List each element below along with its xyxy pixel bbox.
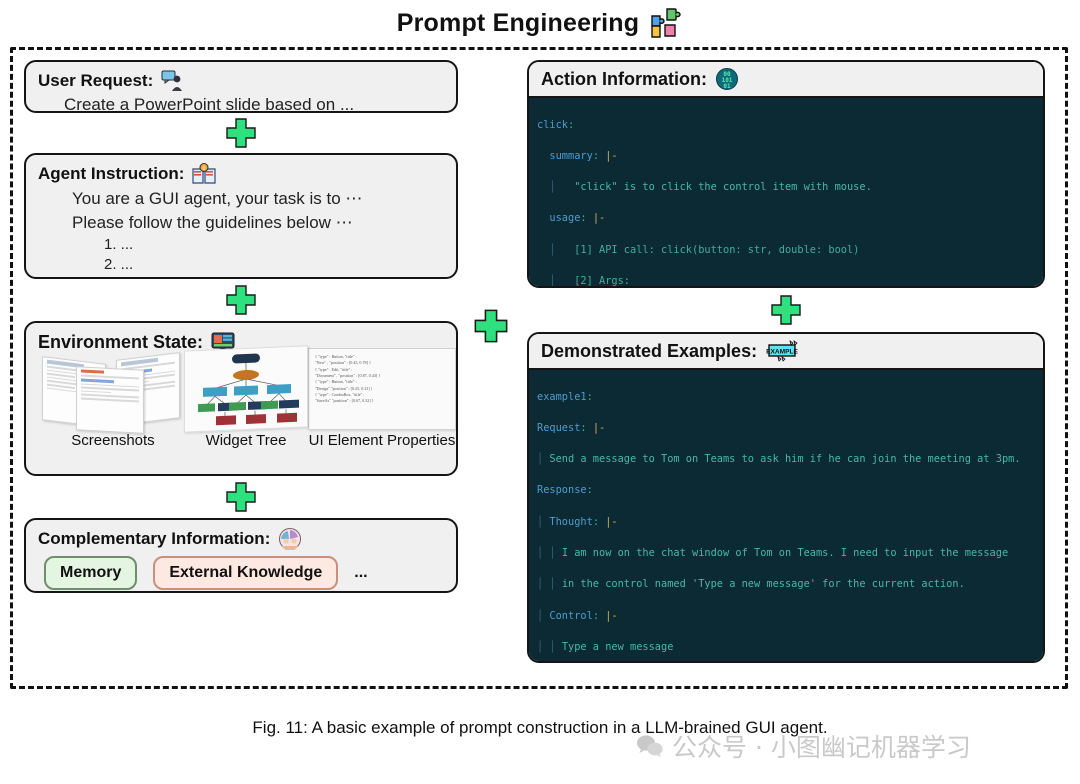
plus-separator-4 — [527, 288, 1045, 332]
environment-item-ui-properties: { "type" : Button, "title" : "New" , "po… — [308, 348, 456, 449]
complementary-information-card: Complementary Information: Memory Extern… — [24, 518, 458, 593]
screenshots-thumbnail — [42, 354, 184, 430]
ui-property-line: "SaveAs" "position" : [0.67, 0.32] } — [315, 398, 450, 404]
svg-text:EXAMPLE: EXAMPLE — [766, 349, 798, 356]
agent-instruction-card: Agent Instruction: i You are a GUI agent… — [24, 153, 458, 279]
environment-item-label: Widget Tree — [206, 432, 287, 449]
environment-item-widget-tree: Widget Tree — [184, 348, 308, 449]
action-information-code: click: summary: |- │ "click" is to click… — [529, 98, 1043, 286]
action-information-card: Action Information: 00 101 01 click: sum… — [527, 60, 1045, 288]
code-line: Response: — [529, 483, 1043, 499]
code-line: click: — [529, 118, 1043, 134]
code-line: Request: |- — [529, 421, 1043, 437]
agent-instruction-line-2: Please follow the guidelines below ⋯ — [72, 213, 444, 233]
puzzle-piece-icon — [647, 6, 683, 40]
complementary-information-title: Complementary Information: — [38, 529, 270, 549]
plus-separator-2 — [24, 279, 458, 321]
svg-text:01: 01 — [723, 83, 731, 90]
code-line: │ [1] API call: click(button: str, doubl… — [529, 243, 1043, 259]
user-speech-bubble-icon — [161, 70, 185, 92]
agent-instruction-item-1: 1. ... — [104, 236, 444, 253]
user-request-title-row: User Request: — [38, 70, 444, 92]
plus-separator-3 — [24, 476, 458, 518]
code-line: usage: |- — [529, 211, 1043, 227]
example-tag-icon: EXAMPLE — [765, 340, 799, 362]
code-line: │ Send a message to Tom on Teams to ask … — [529, 452, 1043, 468]
demonstrated-examples-title: Demonstrated Examples: — [541, 341, 757, 362]
code-line: │ │ Type a new message — [529, 640, 1043, 656]
figure-title: Prompt Engineering — [0, 6, 1080, 40]
agent-instruction-title: Agent Instruction: — [38, 164, 184, 184]
user-request-text: Create a PowerPoint slide based on ... — [64, 95, 444, 115]
code-line: │ [2] Args: — [529, 274, 1043, 286]
figure-caption: Fig. 11: A basic example of prompt const… — [0, 718, 1080, 738]
code-line: │ Thought: |- — [529, 515, 1043, 531]
plus-separator-main — [471, 306, 511, 346]
code-line: │ "click" is to click the control item w… — [529, 180, 1043, 196]
user-request-card: User Request: Create a PowerPoint slide … — [24, 60, 458, 113]
agent-instruction-title-row: Agent Instruction: i — [38, 163, 444, 185]
binary-code-icon: 00 101 01 — [715, 68, 739, 90]
action-information-header: Action Information: 00 101 01 — [529, 62, 1043, 98]
demonstrated-examples-card: Demonstrated Examples: EXAMPLE example1:… — [527, 332, 1045, 663]
environment-state-card: Environment State: — [24, 321, 458, 476]
widget-tree-thumbnail — [184, 345, 308, 432]
action-information-title: Action Information: — [541, 69, 707, 90]
environment-item-label: Screenshots — [71, 432, 154, 449]
environment-state-items: Screenshots — [38, 355, 444, 449]
memory-chip[interactable]: Memory — [44, 556, 137, 590]
user-request-title: User Request: — [38, 71, 153, 91]
complementary-chips: Memory External Knowledge ... — [44, 556, 444, 590]
ui-properties-thumbnail: { "type" : Button, "title" : "New" , "po… — [308, 348, 456, 430]
environment-state-title: Environment State: — [38, 332, 203, 353]
code-line: │ │ in the control named 'Type a new mes… — [529, 577, 1043, 593]
instruction-book-icon: i — [192, 163, 216, 185]
code-line: │ │ I am now on the chat window of Tom o… — [529, 546, 1043, 562]
demonstrated-examples-header: Demonstrated Examples: EXAMPLE — [529, 334, 1043, 370]
action-information-title-row: Action Information: 00 101 01 — [541, 68, 1033, 90]
code-line: │ Control: |- — [529, 609, 1043, 625]
complementary-information-title-row: Complementary Information: — [38, 528, 444, 550]
right-column: Action Information: 00 101 01 click: sum… — [527, 60, 1045, 663]
environment-item-screenshots: Screenshots — [42, 354, 184, 449]
people-group-icon — [278, 528, 302, 550]
demonstrated-examples-title-row: Demonstrated Examples: EXAMPLE — [541, 340, 1033, 362]
code-line: example1: — [529, 390, 1043, 406]
external-knowledge-chip[interactable]: External Knowledge — [153, 556, 338, 590]
demonstrated-examples-code: example1: Request: |- │ Send a message t… — [529, 370, 1043, 661]
figure-title-text: Prompt Engineering — [397, 9, 640, 38]
left-column: User Request: Create a PowerPoint slide … — [24, 60, 458, 593]
code-line: summary: |- — [529, 149, 1043, 165]
plus-separator-1 — [24, 113, 458, 153]
agent-instruction-line-1: You are a GUI agent, your task is to ⋯ — [72, 189, 444, 209]
agent-instruction-item-2: 2. ... — [104, 256, 444, 273]
more-chips-ellipsis: ... — [354, 564, 367, 582]
environment-item-label: UI Element Properties — [309, 432, 456, 449]
